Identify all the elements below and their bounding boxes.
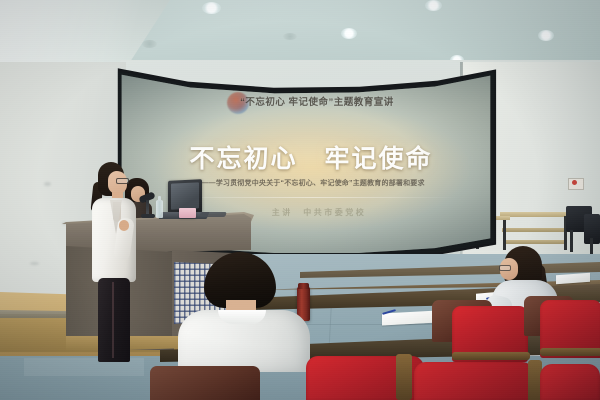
water-bottle bbox=[156, 200, 163, 218]
downlight-icon bbox=[538, 30, 554, 41]
seat-wood-trim bbox=[452, 352, 530, 360]
downlight-icon bbox=[425, 0, 442, 11]
chair-leg bbox=[570, 230, 573, 252]
trouser-seam bbox=[112, 282, 114, 358]
audience-man-collar bbox=[218, 310, 266, 324]
theater-seat bbox=[414, 362, 534, 400]
theater-seat bbox=[540, 364, 600, 400]
seat-wood-trim bbox=[540, 348, 600, 356]
seat-wood-trim bbox=[396, 354, 412, 400]
seat-back-shadow bbox=[150, 366, 260, 400]
folding-table bbox=[500, 212, 572, 217]
downlight-recess-icon bbox=[283, 33, 297, 40]
slide-title-text: 不忘初心 牢记使命 bbox=[120, 139, 502, 175]
desk-cable bbox=[199, 212, 227, 217]
slide-divider bbox=[167, 197, 457, 198]
downlight-icon bbox=[341, 28, 357, 39]
audience-man-front bbox=[178, 252, 310, 372]
pink-box bbox=[179, 208, 196, 218]
presenter-trousers bbox=[98, 278, 130, 362]
glasses-icon bbox=[116, 178, 129, 184]
table-leg bbox=[503, 216, 506, 250]
indicator-light-icon bbox=[572, 180, 577, 185]
presenter-hand bbox=[119, 220, 129, 231]
glasses-icon bbox=[499, 265, 511, 271]
folding-table-shelf bbox=[503, 240, 565, 244]
standing-presenter bbox=[86, 162, 142, 362]
slide-header-text: “不忘初心 牢记使命”主题教育宣讲 bbox=[126, 94, 508, 108]
lecture-hall-photo: “不忘初心 牢记使命”主题教育宣讲 不忘初心 牢记使命 ——学习贯彻党中央关于“… bbox=[0, 0, 600, 400]
downlight-icon bbox=[202, 2, 221, 14]
downlight-recess-icon bbox=[142, 40, 157, 48]
folding-table-shelf bbox=[502, 228, 568, 232]
microphone-base bbox=[141, 214, 155, 218]
